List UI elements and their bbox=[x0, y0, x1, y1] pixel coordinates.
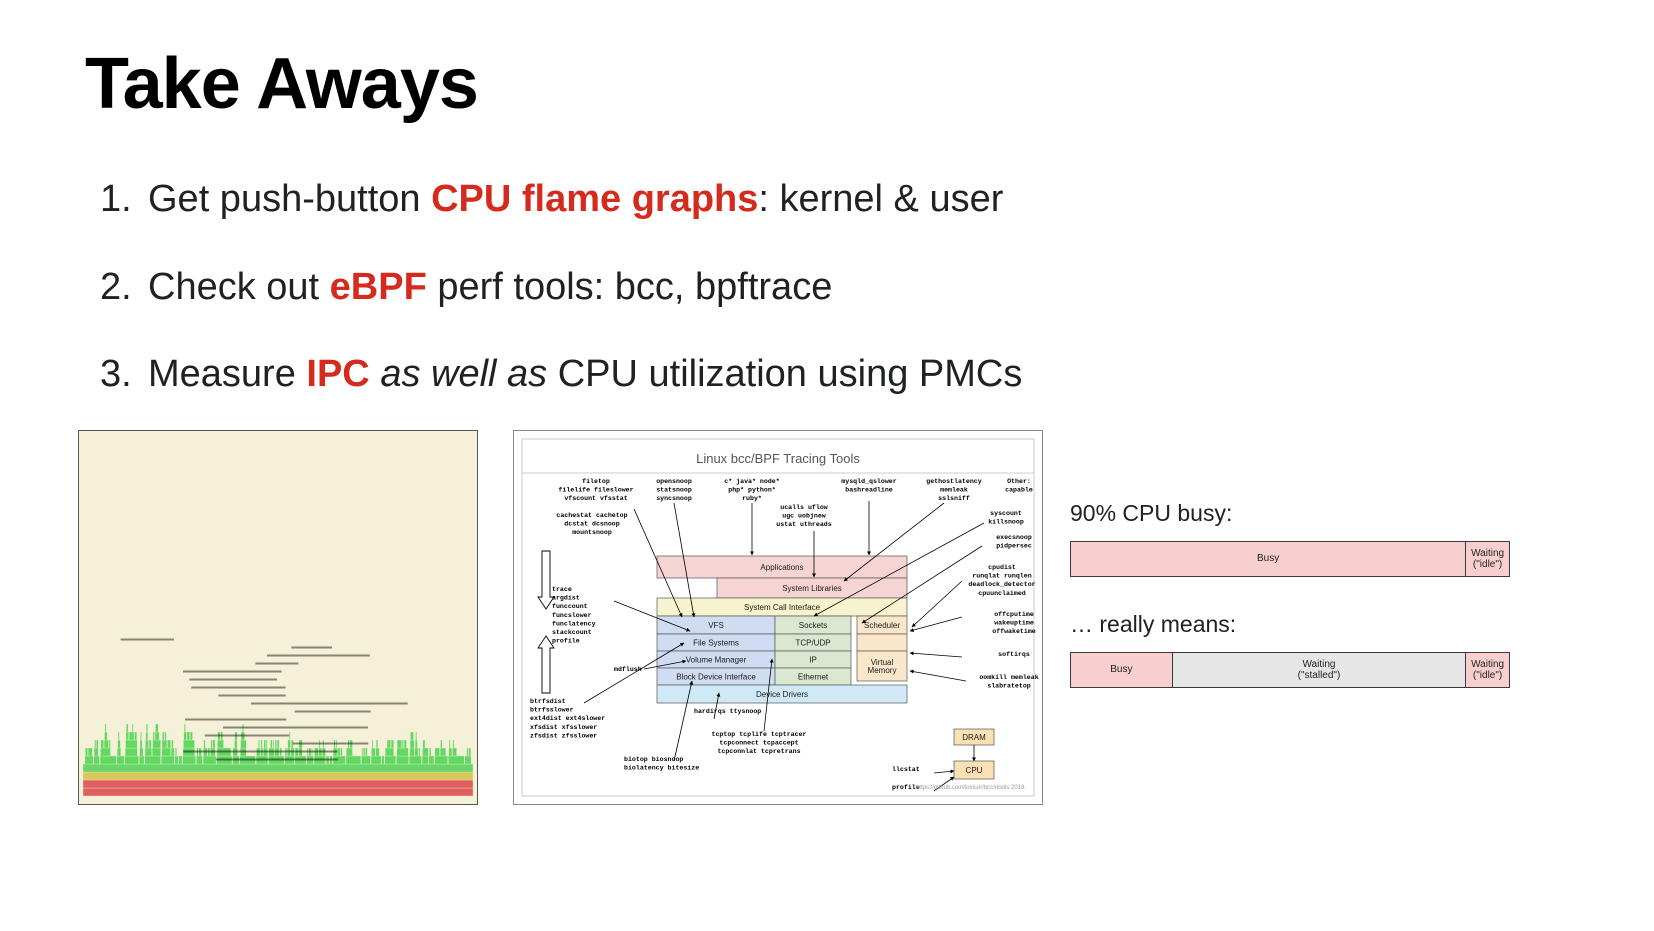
tool-label-softirqs: softirqs bbox=[998, 651, 1030, 658]
cpu-utilization-bar: BusyWaiting("idle") bbox=[1070, 541, 1510, 577]
tool-label-trace: funclatency bbox=[552, 620, 596, 627]
tool-label-trace: profile bbox=[552, 638, 580, 645]
system-libraries-label: System Libraries bbox=[782, 584, 842, 593]
tool-label-gethostlatency: sslsniff bbox=[938, 495, 970, 502]
connector-arrow bbox=[910, 671, 966, 681]
takeaway-number: 3. bbox=[100, 353, 148, 397]
ip-label: IP bbox=[809, 656, 817, 665]
tool-label-tcptop: tcpconnect tcpaccept bbox=[719, 740, 798, 747]
bcc-diagram-title: Linux bcc/BPF Tracing Tools bbox=[696, 451, 860, 466]
tool-label-ucalls: ugc uobjnew bbox=[782, 513, 826, 520]
vfs-label: VFS bbox=[708, 621, 724, 630]
tool-label-trace: argdist bbox=[552, 595, 580, 602]
connector-arrow bbox=[910, 653, 962, 657]
tool-label-fsdist: ext4dist ext4slower bbox=[530, 715, 605, 722]
takeaway-number: 1. bbox=[100, 178, 148, 222]
scheduler-ext-box bbox=[857, 634, 907, 651]
cpu-panel-caption: 90% CPU busy: bbox=[1070, 500, 1510, 527]
cpu-bar-segment-sublabel: ("idle") bbox=[1471, 559, 1504, 571]
takeaway-text: Measure IPC as well as CPU utilization u… bbox=[148, 353, 1022, 397]
tool-label-cpudist: runqlat runqlen bbox=[972, 573, 1031, 580]
tool-label-mysqld: bashreadline bbox=[845, 487, 893, 494]
tool-label-trace: stackcount bbox=[552, 629, 592, 636]
tool-label-runtimes: php* python* bbox=[728, 487, 776, 494]
connector-arrow bbox=[912, 581, 962, 627]
tool-label-cachestat: mountsnoop bbox=[572, 529, 612, 536]
bcc-diagram-footer: https://github.com/iovisor/bcc#tools 201… bbox=[916, 785, 1026, 791]
tool-label-filetop: filelife fileslower bbox=[558, 487, 633, 494]
volume-manager-label: Volume Manager bbox=[686, 656, 747, 665]
tool-label-opensnoop: syncsnoop bbox=[656, 495, 692, 502]
tool-label-fsdist: btrfsslower bbox=[530, 707, 574, 714]
tool-label-tcptop: tcptop tcplife tcptracer bbox=[712, 731, 807, 738]
tool-label-ucalls: ucalls uflow bbox=[780, 504, 828, 511]
tool-label-hardirqs: hardirqs ttysnoop bbox=[694, 708, 761, 715]
scheduler-label: Scheduler bbox=[864, 621, 900, 630]
tcp-udp-label: TCP/UDP bbox=[795, 639, 830, 648]
tool-label-mdflush: mdflush bbox=[614, 666, 642, 673]
tool-label-execsnoop: execsnoop bbox=[996, 534, 1032, 541]
tool-label-fsdist: btrfsdist bbox=[530, 698, 566, 705]
tool-label-opensnoop: statsnoop bbox=[656, 487, 692, 494]
cpu-bar-segment: Waiting("idle") bbox=[1465, 653, 1509, 687]
cpu-bar-segment: Waiting("stalled") bbox=[1172, 653, 1465, 687]
tool-label-gethostlatency: gethostlatency bbox=[926, 478, 981, 485]
cpu-utilization-panels: 90% CPU busy:BusyWaiting("idle")… really… bbox=[1070, 500, 1510, 722]
tool-label-oomkill: oomkill memleak bbox=[979, 674, 1038, 681]
takeaway-number: 2. bbox=[100, 266, 148, 310]
takeaway-item: 3.Measure IPC as well as CPU utilization… bbox=[100, 353, 1300, 397]
cpu-label: CPU bbox=[966, 766, 983, 775]
takeaway-list: 1.Get push-button CPU flame graphs: kern… bbox=[100, 178, 1300, 441]
tool-label-cachestat: cachestat cachetop bbox=[556, 512, 627, 519]
cpu-bar-segment: Busy bbox=[1071, 542, 1465, 576]
cpu-bar-segment-sublabel: ("idle") bbox=[1471, 670, 1504, 682]
tool-label-trace: funccount bbox=[552, 603, 588, 610]
connector-arrow bbox=[934, 771, 954, 773]
takeaway-text-part: eBPF bbox=[330, 266, 427, 308]
takeaway-text-part: CPU flame graphs bbox=[431, 178, 758, 220]
takeaway-text-part: as well as bbox=[370, 353, 558, 395]
takeaway-text-part: IPC bbox=[306, 353, 369, 395]
takeaway-text-part: : kernel & user bbox=[758, 178, 1003, 220]
tool-label-offcputime: wakeuptime bbox=[994, 620, 1034, 627]
cpu-panel-caption: … really means: bbox=[1070, 611, 1510, 638]
tool-label-filetop: vfscount vfsstat bbox=[564, 495, 627, 502]
cpu-bar-segment-label: Waiting bbox=[1471, 548, 1504, 559]
takeaway-text-part: Get push-button bbox=[148, 178, 431, 220]
cpu-utilization-bar: BusyWaiting("stalled")Waiting("idle") bbox=[1070, 652, 1510, 688]
sockets-label: Sockets bbox=[799, 621, 827, 630]
tool-label-trace: funcslower bbox=[552, 612, 592, 619]
tool-label-syscount: killsnoop bbox=[988, 519, 1024, 526]
takeaway-item: 1.Get push-button CPU flame graphs: kern… bbox=[100, 178, 1300, 222]
tool-label-fsdist: zfsdist zfsslower bbox=[530, 732, 597, 739]
tool-label-fsdist: xfsdist xfsslower bbox=[530, 724, 597, 731]
tool-label-execsnoop: pidpersec bbox=[996, 543, 1032, 550]
tool-label-other: capable bbox=[1005, 487, 1033, 494]
takeaway-text-part: CPU utilization using PMCs bbox=[558, 353, 1023, 395]
page-title: Take Aways bbox=[85, 48, 478, 120]
cpu-bar-segment-sublabel: ("stalled") bbox=[1298, 670, 1341, 682]
tool-label-ucalls: ustat uthreads bbox=[776, 521, 831, 528]
tool-label-opensnoop: opensnoop bbox=[656, 478, 692, 485]
tool-label-trace: trace bbox=[552, 586, 572, 593]
cpu-bar-segment-label: Waiting bbox=[1302, 659, 1335, 670]
applications-label: Applications bbox=[760, 563, 803, 572]
tool-label-cpudist: cpudist bbox=[988, 564, 1016, 571]
takeaway-text-part: perf tools: bcc, bpftrace bbox=[427, 266, 833, 308]
dram-label: DRAM bbox=[962, 733, 986, 742]
takeaway-text-part: Measure bbox=[148, 353, 306, 395]
tool-label-filetop: filetop bbox=[582, 478, 610, 485]
tool-label-llcstat: llcstat bbox=[892, 766, 920, 773]
tool-label-runtimes: c* java* node* bbox=[724, 478, 779, 485]
connector-arrow bbox=[910, 617, 962, 631]
takeaway-text-part: Check out bbox=[148, 266, 330, 308]
tool-label-runtimes: ruby* bbox=[742, 495, 762, 502]
flame-graph-svg bbox=[79, 431, 477, 804]
bcc-diagram-svg: Linux bcc/BPF Tracing ToolsApplicationsS… bbox=[514, 431, 1042, 804]
tool-label-oomkill: slabratetop bbox=[987, 683, 1031, 690]
tool-label-mysqld: mysqld_qslower bbox=[841, 478, 896, 485]
cpu-flame-graph[interactable] bbox=[78, 430, 478, 805]
tool-label-tcptop: tcpconnlat tcpretrans bbox=[717, 748, 800, 755]
tool-label-cpudist: deadlock_detector bbox=[968, 581, 1035, 588]
block-device-interface-label: Block Device Interface bbox=[676, 673, 756, 682]
tool-label-cpudist: cpuunclaimed bbox=[978, 590, 1026, 597]
device-drivers-label: Device Drivers bbox=[756, 690, 808, 699]
takeaway-text: Check out eBPF perf tools: bcc, bpftrace bbox=[148, 266, 832, 310]
tool-label-offcputime: offcputime bbox=[994, 611, 1034, 618]
cpu-bar-segment: Busy bbox=[1071, 653, 1172, 687]
cpu-bar-segment-label: Busy bbox=[1110, 664, 1132, 675]
file-systems-label: File Systems bbox=[693, 639, 739, 648]
tool-label-other: Other: bbox=[1007, 478, 1031, 485]
takeaway-text: Get push-button CPU flame graphs: kernel… bbox=[148, 178, 1003, 222]
takeaway-item: 2.Check out eBPF perf tools: bcc, bpftra… bbox=[100, 266, 1300, 310]
cpu-bar-segment-label: Waiting bbox=[1471, 659, 1504, 670]
cpu-bar-segment-label: Busy bbox=[1257, 553, 1279, 564]
virtual-memory-label: Memory bbox=[868, 666, 897, 675]
tool-label-cachestat: dcstat dcsnoop bbox=[564, 521, 619, 528]
tool-label-syscount: syscount bbox=[990, 510, 1022, 517]
tool-label-gethostlatency: memleak bbox=[940, 487, 968, 494]
system-call-interface-label: System Call Interface bbox=[744, 603, 821, 612]
tool-label-offcputime: offwaketime bbox=[992, 628, 1036, 635]
ethernet-label: Ethernet bbox=[798, 673, 829, 682]
tool-label-biotop: biolatency bitesize bbox=[624, 765, 699, 772]
cpu-bar-segment: Waiting("idle") bbox=[1465, 542, 1509, 576]
bcc-bpf-tracing-tools-diagram[interactable]: Linux bcc/BPF Tracing ToolsApplicationsS… bbox=[513, 430, 1043, 805]
